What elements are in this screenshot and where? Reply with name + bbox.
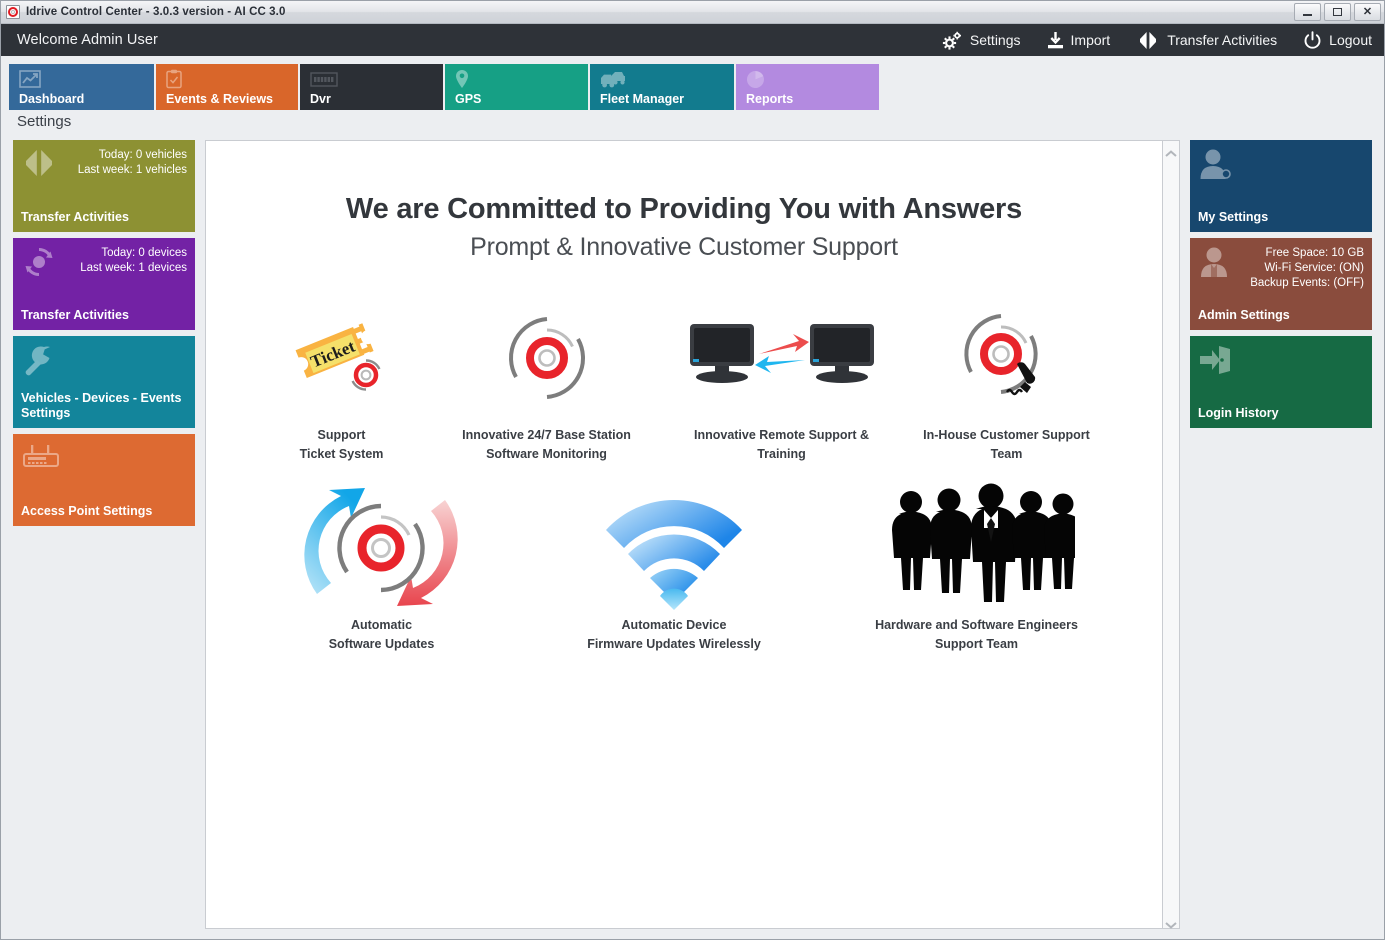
feature-caption-line: Innovative 24/7 Base Station [462, 428, 631, 442]
tile-vehicles-devices-events-settings[interactable]: Vehicles - Devices - Events Settings [13, 336, 195, 428]
feature-caption: Support Ticket System [300, 426, 384, 464]
promo-headline: We are Committed to Providing You with A… [246, 193, 1122, 226]
feature-caption-line: Firmware Updates Wirelessly [587, 637, 761, 651]
tile-transfer-activities-vehicles[interactable]: Today: 0 vehicles Last week: 1 vehicles … [13, 140, 195, 232]
feature-caption-line: Software Updates [329, 637, 435, 651]
download-icon [1047, 31, 1064, 50]
feature-caption-line: Ticket System [300, 447, 384, 461]
feature-caption: Innovative Remote Support & Training [694, 426, 869, 464]
update-cycle-icon [289, 492, 474, 604]
tab-events-reviews-label: Events & Reviews [166, 92, 288, 110]
tab-dashboard[interactable]: Dashboard [9, 64, 154, 110]
content-panel: We are Committed to Providing You with A… [205, 140, 1163, 929]
chevron-up-icon[interactable] [1165, 145, 1177, 153]
feature-firmware-updates-wirelessly: Automatic Device Firmware Updates Wirele… [517, 492, 832, 654]
tile-stat-line: Backup Events: (OFF) [1250, 277, 1364, 289]
tab-dvr-label: Dvr [310, 92, 433, 110]
feature-inhouse-support-team: In-House Customer Support Team [899, 302, 1114, 464]
promo-subhead: Prompt & Innovative Customer Support [246, 233, 1122, 262]
tile-stats: Free Space: 10 GB Wi-Fi Service: (ON) Ba… [1250, 246, 1364, 291]
promo-section: We are Committed to Providing You with A… [206, 141, 1162, 654]
tile-title: Access Point Settings [21, 504, 187, 519]
power-icon [1303, 31, 1322, 50]
remote-monitors-icon [687, 302, 877, 414]
tab-fleet-manager[interactable]: Fleet Manager [590, 64, 734, 110]
header-settings-label: Settings [970, 32, 1021, 48]
content-scrollbar[interactable] [1163, 140, 1180, 929]
title-bar: Idrive Control Center - 3.0.3 version - … [1, 1, 1384, 24]
tab-dvr[interactable]: Dvr [300, 64, 443, 110]
feature-caption-line: Automatic Device [622, 618, 727, 632]
feature-caption-line: Innovative Remote Support & [694, 428, 869, 442]
pie-chart-icon [746, 69, 869, 89]
tab-gps[interactable]: GPS [445, 64, 588, 110]
support-ticket-icon: Ticket [288, 302, 396, 414]
tile-title: Vehicles - Devices - Events Settings [21, 391, 187, 421]
feature-caption-line: In-House Customer Support [923, 428, 1090, 442]
tab-gps-label: GPS [455, 92, 578, 110]
tab-reports-label: Reports [746, 92, 869, 110]
clipboard-check-icon [166, 69, 288, 89]
feature-row-1: Ticket [246, 302, 1122, 464]
main-content-column: We are Committed to Providing You with A… [205, 140, 1180, 929]
feature-hardware-software-engineers: Hardware and Software Engineers Support … [832, 492, 1122, 654]
feature-caption-line: Team [991, 447, 1023, 461]
feature-base-station-monitoring: Innovative 24/7 Base Station Software Mo… [429, 302, 664, 464]
application-window: Idrive Control Center - 3.0.3 version - … [0, 0, 1385, 940]
header-import-label: Import [1071, 32, 1111, 48]
header-transfer-activities-button[interactable]: Transfer Activities [1136, 31, 1277, 50]
feature-caption-line: Software Monitoring [486, 447, 607, 461]
router-icon [21, 442, 61, 475]
welcome-message: Welcome Admin User [17, 32, 158, 48]
feature-caption-line: Automatic [351, 618, 412, 632]
tile-stats: Today: 0 vehicles Last week: 1 vehicles [78, 148, 187, 178]
tile-access-point-settings[interactable]: Access Point Settings [13, 434, 195, 526]
tab-reports[interactable]: Reports [736, 64, 879, 110]
tab-dashboard-label: Dashboard [19, 92, 144, 110]
transfer-arrows-icon [1136, 31, 1160, 50]
team-silhouette-icon [879, 492, 1075, 604]
left-tile-column: Today: 0 vehicles Last week: 1 vehicles … [13, 140, 195, 929]
feature-caption-line: Training [757, 447, 806, 461]
sync-device-icon [21, 246, 57, 283]
feature-caption: Hardware and Software Engineers Support … [875, 616, 1078, 654]
feature-caption: Automatic Device Firmware Updates Wirele… [587, 616, 761, 654]
idrive-target-icon [6, 5, 20, 19]
login-door-icon [1198, 344, 1232, 379]
breadcrumb-label: Settings [17, 113, 71, 130]
gears-icon [941, 31, 963, 50]
feature-support-ticket-system: Ticket [254, 302, 429, 464]
tile-stat-line: Last week: 1 devices [80, 262, 187, 274]
admin-user-icon [1198, 246, 1230, 283]
user-settings-icon [1198, 148, 1232, 185]
page-body: Today: 0 vehicles Last week: 1 vehicles … [1, 140, 1384, 939]
top-header-bar: Welcome Admin User [1, 24, 1384, 56]
tile-my-settings[interactable]: My Settings [1190, 140, 1372, 232]
feature-remote-support-training: Innovative Remote Support & Training [664, 302, 899, 464]
header-actions: Settings Import Transf [941, 31, 1372, 50]
tile-admin-settings[interactable]: Free Space: 10 GB Wi-Fi Service: (ON) Ba… [1190, 238, 1372, 330]
maximize-button[interactable] [1324, 3, 1351, 21]
map-pin-icon [455, 69, 578, 89]
feature-caption-line: Hardware and Software Engineers [875, 618, 1078, 632]
tile-stat-line: Today: 0 vehicles [99, 149, 187, 161]
tab-events-reviews[interactable]: Events & Reviews [156, 64, 298, 110]
wifi-signal-icon [600, 492, 748, 604]
feature-caption: Innovative 24/7 Base Station Software Mo… [462, 426, 631, 464]
tile-stat-line: Free Space: 10 GB [1266, 247, 1364, 259]
target-phone-icon [957, 302, 1057, 414]
tile-stat-line: Wi-Fi Service: (ON) [1264, 262, 1364, 274]
header-logout-label: Logout [1329, 32, 1372, 48]
right-tile-column: My Settings Free Space: 10 GB Wi-Fi Serv… [1190, 140, 1372, 929]
tile-title: My Settings [1198, 210, 1364, 225]
header-import-button[interactable]: Import [1047, 31, 1111, 50]
tile-stats: Today: 0 devices Last week: 1 devices [80, 246, 187, 276]
tab-fleet-manager-label: Fleet Manager [600, 92, 724, 110]
wrench-icon [21, 344, 55, 381]
tile-stat-line: Today: 0 devices [101, 247, 187, 259]
feature-automatic-software-updates: Automatic Software Updates [247, 492, 517, 654]
window-title: Idrive Control Center - 3.0.3 version - … [26, 6, 285, 18]
vehicles-icon [600, 69, 724, 89]
tile-title: Login History [1198, 406, 1364, 421]
tile-stat-line: Last week: 1 vehicles [78, 164, 187, 176]
tile-transfer-activities-devices[interactable]: Today: 0 devices Last week: 1 devices Tr… [13, 238, 195, 330]
transfer-arrows-icon [21, 148, 57, 183]
feature-caption-line: Support Team [935, 637, 1018, 651]
module-tab-strip: Dashboard Events & Reviews [1, 56, 1384, 110]
window-controls: ✕ [1294, 3, 1381, 21]
dvr-device-icon [310, 69, 433, 89]
tile-title: Transfer Activities [21, 210, 187, 225]
chevron-down-icon[interactable] [1165, 916, 1177, 924]
tile-login-history[interactable]: Login History [1190, 336, 1372, 428]
feature-caption: Automatic Software Updates [329, 616, 435, 654]
header-settings-button[interactable]: Settings [941, 31, 1021, 50]
minimize-button[interactable] [1294, 3, 1321, 21]
chart-trend-icon [19, 69, 144, 89]
tile-title: Admin Settings [1198, 308, 1364, 323]
feature-row-2: Automatic Software Updates [246, 492, 1122, 654]
feature-caption-line: Support [318, 428, 366, 442]
header-transfer-activities-label: Transfer Activities [1167, 32, 1277, 48]
feature-caption: In-House Customer Support Team [923, 426, 1090, 464]
breadcrumb: Settings [1, 110, 1384, 140]
idrive-target-icon [504, 302, 590, 414]
header-logout-button[interactable]: Logout [1303, 31, 1372, 50]
tile-title: Transfer Activities [21, 308, 187, 323]
close-button[interactable]: ✕ [1354, 3, 1381, 21]
